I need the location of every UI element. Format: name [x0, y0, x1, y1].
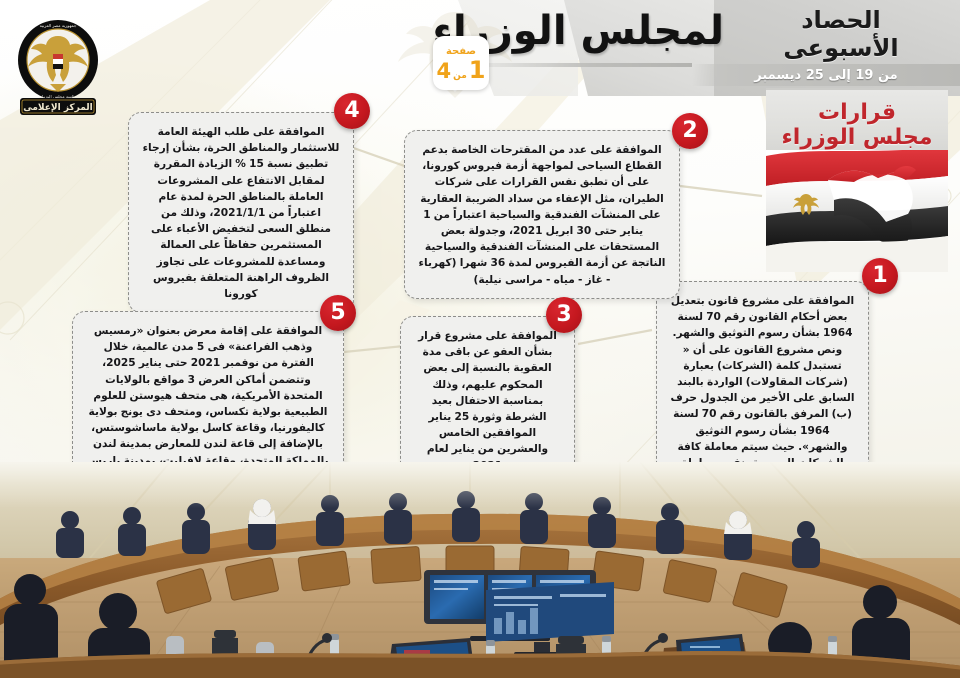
- decisions-heading-line1: قرارات: [818, 101, 896, 124]
- cabinet-media-center-logo: جمهورية مصر العربية رئاسة مجلس الوزراء ا…: [10, 14, 106, 118]
- date-range-text: من 19 إلى 25 ديسمبر: [754, 68, 897, 83]
- decision-badge-2: 2: [672, 113, 708, 149]
- header-title-line2: الأسبوعى: [736, 34, 946, 62]
- header-subtitle-stack: الحصاد الأسبوعى: [736, 6, 946, 63]
- decision-badge-5: 5: [320, 295, 356, 331]
- decision-badge-3: 3: [546, 297, 582, 333]
- decisions-flag-panel: قرارات مجلس الوزراء: [766, 88, 948, 272]
- decision-badge-1: 1: [862, 258, 898, 294]
- decision-text-4: الموافقة على طلب الهيئة العامة للاستثمار…: [142, 124, 340, 302]
- decision-text-2: الموافقة على عدد من المقترحات الخاصة بدع…: [418, 142, 666, 288]
- decision-card-3: الموافقة على مشروع قرار بشأن العفو عن با…: [400, 316, 575, 485]
- decision-text-3: الموافقة على مشروع قرار بشأن العفو عن با…: [414, 328, 561, 474]
- header-rule: [456, 63, 692, 67]
- decision-badge-4: 4: [334, 93, 370, 129]
- page-indicator-numbers: 4 من 1: [437, 58, 486, 82]
- svg-text:جمهورية مصر العربية: جمهورية مصر العربية: [40, 23, 77, 28]
- page-total: 4: [437, 61, 452, 82]
- cabinet-meeting-photo: [0, 462, 960, 678]
- header-title-line1: الحصاد: [736, 6, 946, 34]
- page-current: 1: [469, 58, 486, 82]
- decision-text-5: الموافقة على إقامة معرض بعنوان «رمسيس وذ…: [86, 323, 330, 485]
- page-indicator-badge: صفحة 4 من 1: [433, 36, 489, 90]
- decision-card-2: الموافقة على عدد من المقترحات الخاصة بدع…: [404, 130, 680, 299]
- infographic-canvas: الحصاد الأسبوعى لمجلس الوزراء من 19 إلى …: [0, 0, 960, 678]
- decisions-heading-line2: مجلس الوزراء: [782, 126, 933, 149]
- svg-text:المركز الإعلامى: المركز الإعلامى: [23, 103, 93, 113]
- decision-card-4: الموافقة على طلب الهيئة العامة للاستثمار…: [128, 112, 354, 313]
- egypt-flag-icon: [766, 150, 948, 272]
- page-of-word: من: [453, 72, 467, 81]
- date-range-bar: من 19 إلى 25 ديسمبر: [692, 64, 960, 86]
